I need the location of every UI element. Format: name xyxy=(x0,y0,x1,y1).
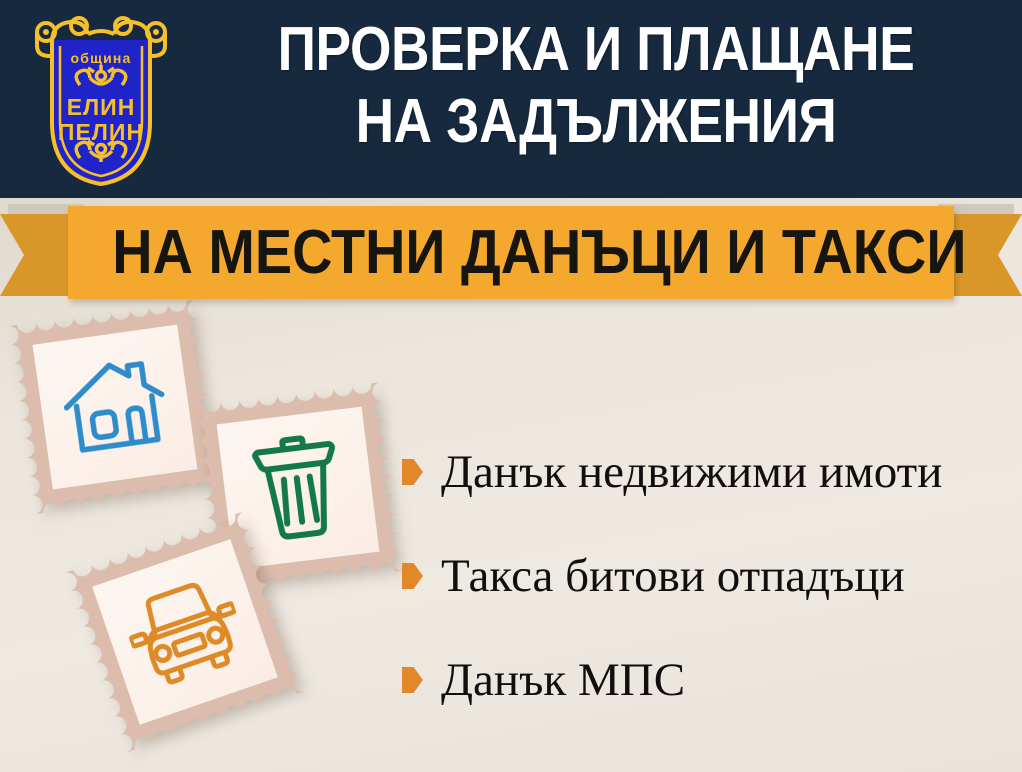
trash-can-icon-svg xyxy=(244,431,352,546)
crest-line-mid: ЕЛИН xyxy=(67,94,136,120)
list-item-label: Данък МПС xyxy=(441,657,685,704)
list-item[interactable]: Данък недвижими имоти xyxy=(402,420,1012,524)
page-title-line1: ПРОВЕРКА И ПЛАЩАНЕ xyxy=(243,14,948,86)
ribbon-banner: НА МЕСТНИ ДАНЪЦИ И ТАКСИ xyxy=(0,198,1022,310)
arrow-bullet-icon xyxy=(402,459,423,485)
stamp-card-property xyxy=(8,300,223,515)
crest-line-top: община xyxy=(70,50,131,66)
tax-type-list: Данък недвижими имоти Такса битови отпад… xyxy=(402,420,1012,732)
house-icon-svg xyxy=(57,352,173,462)
page-title-line2: НА ЗАДЪЛЖЕНИЯ xyxy=(243,86,948,158)
coat-of-arms: община ЕЛИН ПЕЛИН xyxy=(22,10,180,190)
arrow-bullet-icon xyxy=(402,563,423,589)
crest-line-bottom: ПЕЛИН xyxy=(58,119,144,145)
ribbon-text: НА МЕСТНИ ДАНЪЦИ И ТАКСИ xyxy=(112,206,909,299)
list-item[interactable]: Такса битови отпадъци xyxy=(402,524,1012,628)
page-title: ПРОВЕРКА И ПЛАЩАНЕ НА ЗАДЪЛЖЕНИЯ xyxy=(243,14,948,158)
car-icon-svg xyxy=(117,569,252,696)
ribbon-main-panel: НА МЕСТНИ ДАНЪЦИ И ТАКСИ xyxy=(68,206,954,299)
list-item[interactable]: Данък МПС xyxy=(402,628,1012,732)
list-item-label: Данък недвижими имоти xyxy=(441,449,942,496)
list-item-label: Такса битови отпадъци xyxy=(441,553,905,600)
house-icon xyxy=(33,325,198,490)
header-bar: община ЕЛИН ПЕЛИН ПРОВЕРКА И ПЛАЩАНЕ НА … xyxy=(0,0,1022,198)
crest-svg: община ЕЛИН ПЕЛИН xyxy=(22,10,180,190)
poster-root: община ЕЛИН ПЕЛИН ПРОВЕРКА И ПЛАЩАНЕ НА … xyxy=(0,0,1022,772)
arrow-bullet-icon xyxy=(402,667,423,693)
